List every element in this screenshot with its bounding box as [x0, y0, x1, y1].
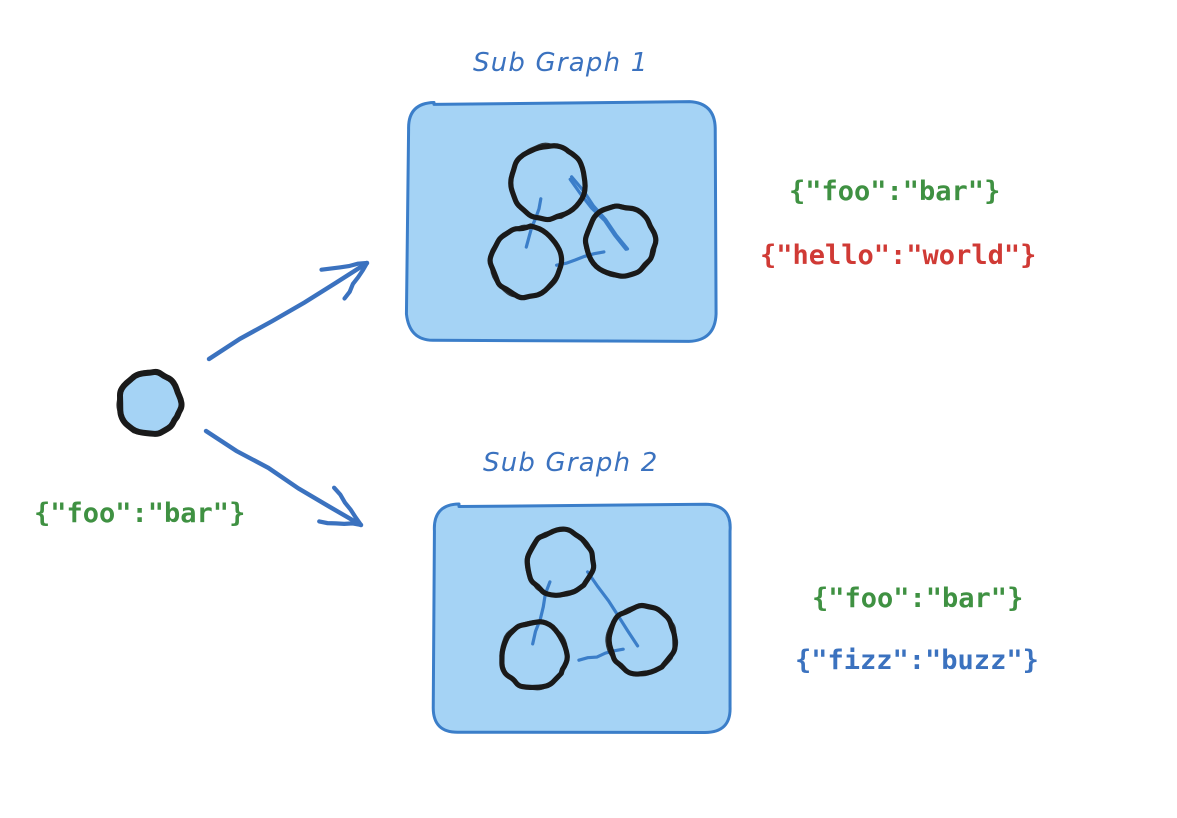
arrow-to-subgraph-1-shaft[interactable]	[209, 263, 367, 359]
arrow-to-subgraph-1-group	[209, 263, 367, 359]
root-node-label: {"foo":"bar"}	[34, 500, 245, 527]
root-node-group	[118, 371, 182, 434]
subgraph-1-group	[406, 102, 716, 342]
subgraph-2-label-foo: {"foo":"bar"}	[812, 585, 1023, 612]
subgraph-1-label-hello: {"hello":"world"}	[760, 242, 1036, 269]
subgraph-2-title: Sub Graph 2	[483, 450, 659, 476]
subgraph-2-group	[433, 504, 730, 732]
subgraph-1-label-foo: {"foo":"bar"}	[789, 178, 1000, 205]
subgraph-1-box[interactable]	[406, 102, 716, 342]
diagram-canvas: {"foo":"bar"}Sub Graph 1{"foo":"bar"}{"h…	[0, 0, 1177, 818]
arrow-to-subgraph-2-head-2	[319, 521, 361, 525]
subgraph-2-label-fizz: {"fizz":"buzz"}	[795, 647, 1039, 674]
subgraph-1-title: Sub Graph 1	[473, 50, 649, 76]
diagram-sketch-layer	[0, 0, 1177, 818]
